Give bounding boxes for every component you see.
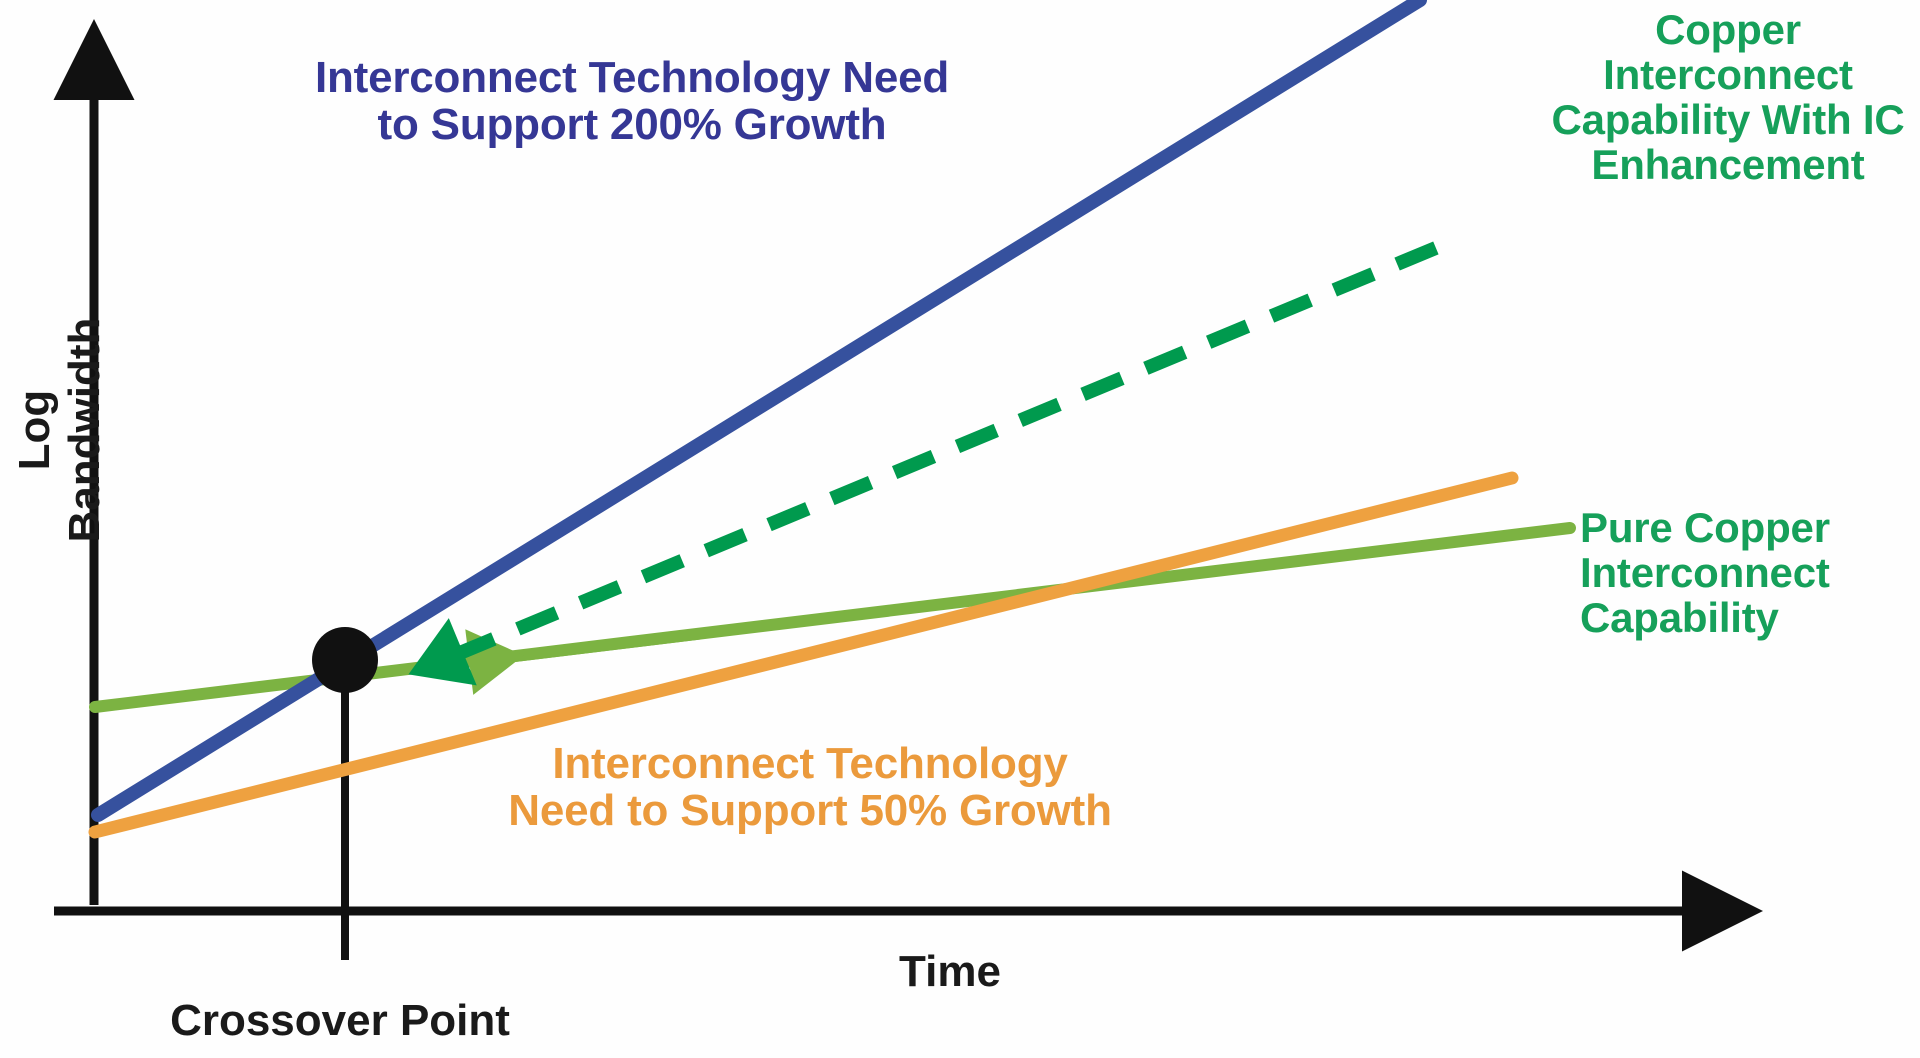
x-axis-label: Time: [830, 947, 1070, 997]
crossover-point-label: Crossover Point: [60, 996, 620, 1046]
annotation-200-growth: Interconnect Technology Need to Support …: [212, 54, 1052, 148]
annotation-copper-ic-enhancement: Copper Interconnect Capability With IC E…: [1528, 8, 1920, 188]
series-line-copper-ic-enhanced: [455, 240, 1455, 655]
annotation-pure-copper: Pure Copper Interconnect Capability: [1580, 506, 1920, 641]
series-arrow-pure-copper: [478, 634, 700, 661]
y-axis-label: Log Bandwidth: [10, 280, 110, 580]
annotation-50-growth: Interconnect Technology Need to Support …: [430, 740, 1190, 834]
chart-canvas: Interconnect Technology Need to Support …: [0, 0, 1920, 1058]
crossover-point-marker: [312, 627, 378, 693]
